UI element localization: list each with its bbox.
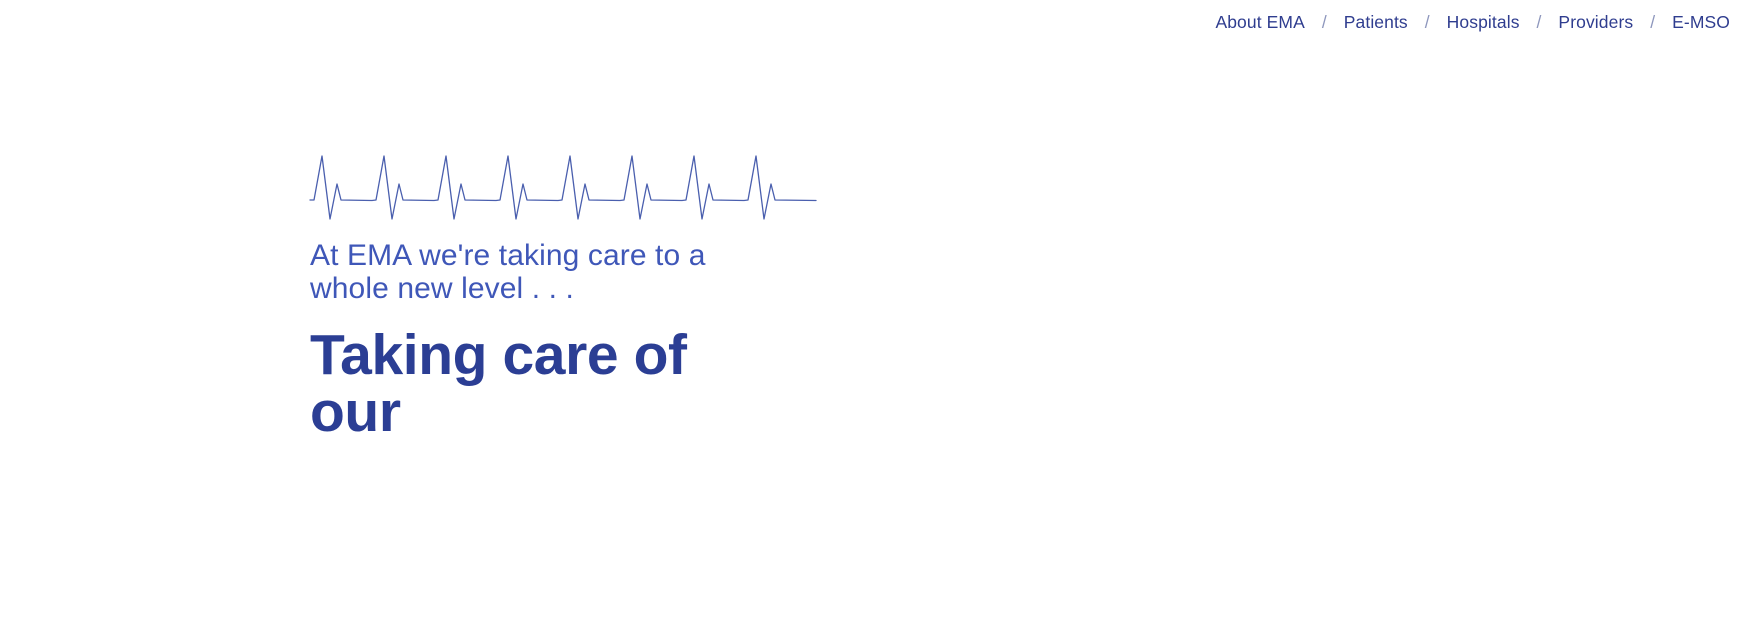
nav-item-hospitals[interactable]: Hospitals <box>1447 0 1520 44</box>
nav-item-providers[interactable]: Providers <box>1558 0 1633 44</box>
hero-heading-line-1: Taking care of <box>310 327 780 384</box>
top-navigation: About EMA / Patients / Hospitals / Provi… <box>1215 0 1730 44</box>
hero-heading: Taking care of our <box>310 327 780 441</box>
nav-item-patients[interactable]: Patients <box>1344 0 1408 44</box>
hero-content: At EMA we're taking care to a whole new … <box>310 140 1210 441</box>
nav-separator: / <box>1633 0 1672 44</box>
hero-subtitle-line-1: At EMA we're taking care to a <box>310 240 780 273</box>
nav-separator: / <box>1520 0 1559 44</box>
hero-heading-line-2: our <box>310 384 780 441</box>
nav-separator: / <box>1408 0 1447 44</box>
hero-subtitle: At EMA we're taking care to a whole new … <box>310 240 780 305</box>
nav-item-about-ema[interactable]: About EMA <box>1215 0 1304 44</box>
hero-page: About EMA / Patients / Hospitals / Provi… <box>0 0 1752 625</box>
nav-separator: / <box>1305 0 1344 44</box>
heartbeat-ekg-icon <box>310 140 816 222</box>
hero-subtitle-line-2: whole new level . . . <box>310 273 780 306</box>
nav-item-e-mso[interactable]: E-MSO <box>1672 0 1730 44</box>
